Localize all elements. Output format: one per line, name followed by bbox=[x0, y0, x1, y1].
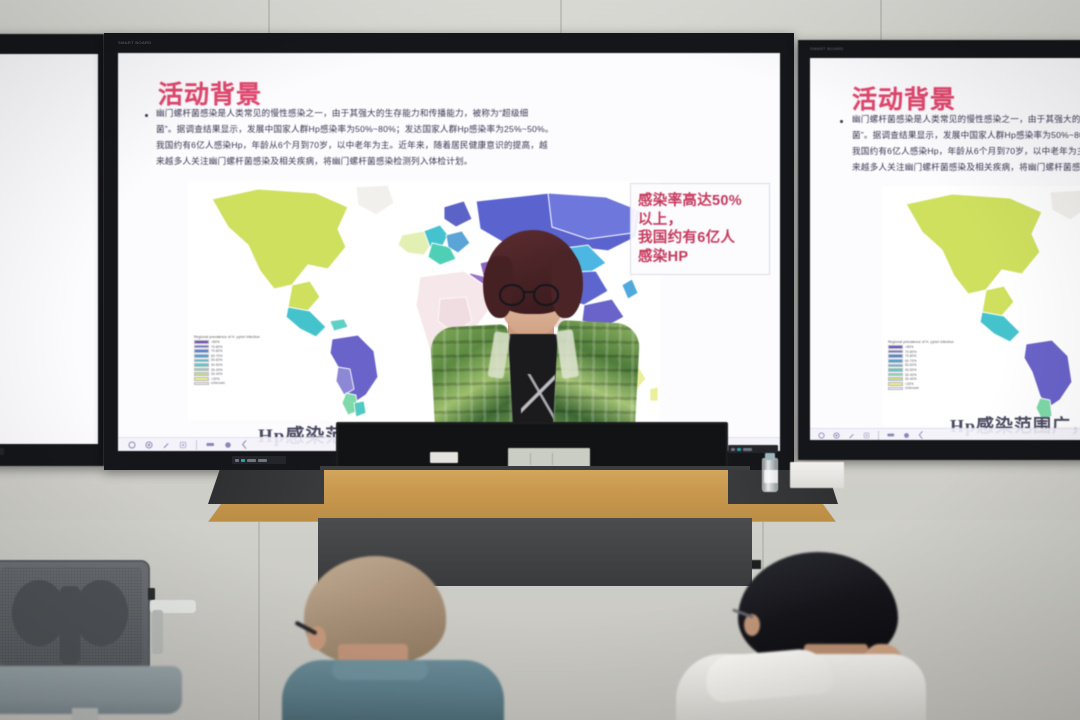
left-slide-text-2: %~50%。 bbox=[0, 106, 98, 118]
map-legend-row: 30-40% bbox=[194, 372, 260, 376]
display-brand-label: SMART BOARD bbox=[118, 40, 152, 45]
presenter bbox=[425, 222, 640, 452]
right-slide-line-1: 幽门螺杆菌感染是人类常见的慢性感染之一，由于其强大的生存能力和传播能力，被称为“… bbox=[852, 113, 1080, 127]
audience-right bbox=[676, 548, 976, 720]
select-frame-icon[interactable] bbox=[863, 432, 870, 439]
power-indicator-icon bbox=[235, 459, 239, 462]
map-legend-swatch bbox=[194, 340, 209, 344]
map-legend-row: 50-60% bbox=[194, 358, 260, 362]
lecture-hall-photo: 级细 %~50%。 高。越 0% 人 SMART BOARD 活动背景 bbox=[0, 0, 1080, 720]
right-map-legend-swatch bbox=[888, 350, 903, 354]
right-map-legend-title: Regional prevalence of H. pylori infecti… bbox=[888, 340, 954, 344]
right-map-legend-row: 50-60% bbox=[888, 363, 954, 367]
eraser-icon[interactable] bbox=[887, 432, 895, 438]
left-slide-text-3: 高。越 bbox=[0, 130, 98, 142]
control-button-icon bbox=[743, 448, 752, 451]
audience-left-collar bbox=[332, 660, 428, 680]
map-legend-row: 40-50% bbox=[194, 363, 260, 367]
office-chair[interactable] bbox=[0, 560, 196, 720]
map-legend-row: 70-80% bbox=[194, 345, 260, 349]
record-dot-icon[interactable] bbox=[833, 432, 840, 439]
right-map-legend-label: 40-50% bbox=[905, 368, 917, 372]
slide-callout-box: 感染率高达50% 以上， 我国约有6亿人 感染HP bbox=[630, 183, 770, 275]
chair-armrest-post-right bbox=[152, 610, 163, 654]
eraser-icon[interactable] bbox=[206, 441, 215, 448]
podium-side-left bbox=[208, 470, 324, 504]
bottle-cap bbox=[765, 453, 775, 460]
right-world-map-figure: Regional prevalence of H. pylori infecti… bbox=[882, 186, 1080, 426]
right-map-legend-label: 60-70% bbox=[905, 359, 917, 363]
right-map-legend-row: 60-70% bbox=[888, 359, 954, 363]
record-dot-icon[interactable] bbox=[145, 441, 153, 449]
slide-body-line-4: 来越多人关注幽门螺杆菌感染及相关疾病，将幽门螺杆菌感染检测列入体检计划。 bbox=[156, 155, 774, 169]
right-map-legend-swatch bbox=[888, 359, 903, 363]
right-slide-line-4: 来越多人关注幽门螺杆菌感染及相关疾病，将幽门螺杆菌感染检测列入体检计划。 bbox=[852, 161, 1080, 175]
right-slide-title: 活动背景 bbox=[852, 80, 956, 116]
map-legend-swatch bbox=[194, 377, 209, 381]
audience-left bbox=[276, 548, 506, 720]
right-map-legend-swatch bbox=[888, 368, 903, 372]
right-slide-line-3: 我国约有6亿人感染Hp，年龄从6个月到70岁，以中老年为主。近年来，随着居民健康… bbox=[852, 145, 1080, 159]
control-button-2-icon bbox=[258, 459, 267, 462]
right-map-legend-row: 70-80% bbox=[888, 350, 954, 354]
left-slide-text-1: 级细 bbox=[0, 82, 98, 94]
prev-chevron-icon[interactable] bbox=[241, 440, 248, 449]
presenter-hair-side-right bbox=[551, 252, 583, 318]
center-display-controls[interactable] bbox=[232, 456, 286, 464]
map-legend-row: 30-40% bbox=[194, 368, 260, 372]
right-map-legend-swatch bbox=[888, 387, 903, 391]
map-legend-swatch bbox=[194, 372, 209, 376]
right-map-legend-label: 70-80% bbox=[905, 354, 917, 358]
map-legend-row: 70-80% bbox=[194, 349, 260, 353]
control-button-icon bbox=[247, 459, 256, 462]
podium-name-plate bbox=[430, 452, 458, 463]
right-map-legend-swatch bbox=[888, 354, 903, 358]
map-legend-label: 40-50% bbox=[211, 363, 223, 367]
right-map-legend-label: 30-40% bbox=[905, 377, 917, 381]
map-legend-label: 60-70% bbox=[211, 354, 223, 358]
chair-lumbar-support bbox=[12, 580, 66, 646]
right-map-legend-row: Unknown bbox=[888, 386, 954, 390]
record-icon[interactable] bbox=[128, 441, 136, 449]
status-indicator-icon bbox=[241, 459, 245, 462]
map-legend-label: >80% bbox=[211, 340, 220, 344]
left-slide: 级细 %~50%。 高。越 0% 人 bbox=[0, 54, 98, 444]
map-legend-label: <30% bbox=[211, 377, 220, 381]
chair-lumbar-support-right bbox=[74, 580, 128, 646]
paper-stack[interactable] bbox=[790, 462, 844, 488]
prev-chevron-icon[interactable] bbox=[918, 431, 924, 439]
toolbar-divider bbox=[196, 440, 197, 450]
map-legend-swatch bbox=[194, 363, 209, 367]
map-legend-label: 70-80% bbox=[211, 345, 223, 349]
presenter-shirt-graphic bbox=[521, 374, 555, 424]
right-map-legend-label: <30% bbox=[905, 382, 914, 386]
chair-adjust-knob[interactable] bbox=[148, 588, 155, 600]
left-display[interactable]: 级细 %~50%。 高。越 0% 人 bbox=[0, 34, 104, 466]
select-frame-icon[interactable] bbox=[179, 441, 187, 449]
chair-lumbar-center bbox=[60, 586, 80, 664]
right-map-legend-label: Unknown bbox=[905, 386, 919, 390]
right-slide: 活动背景 幽门螺杆菌感染是人类常见的慢性感染之一，由于其强大的生存能力和传播能力… bbox=[810, 58, 1080, 440]
right-map-legend-swatch bbox=[888, 364, 903, 368]
right-map-legend-label: 70-80% bbox=[905, 350, 917, 354]
pen-icon[interactable] bbox=[162, 441, 170, 449]
map-legend-swatch bbox=[194, 382, 209, 386]
chair-base-post bbox=[72, 708, 98, 720]
right-map-legend-swatch bbox=[888, 345, 903, 349]
right-map-legend-label: 50-60% bbox=[905, 363, 917, 367]
status-indicator-icon bbox=[737, 448, 741, 451]
water-bottle[interactable] bbox=[762, 458, 778, 492]
map-legend-label: 70-80% bbox=[211, 349, 223, 353]
map-legend: Regional prevalence of H. pylori infecti… bbox=[194, 335, 260, 386]
toolbar-divider bbox=[878, 431, 879, 440]
slide-title: 活动背景 bbox=[158, 75, 262, 111]
map-legend-swatch bbox=[194, 345, 209, 349]
right-map-legend-row: 40-50% bbox=[888, 368, 954, 372]
map-legend-row: 60-70% bbox=[194, 354, 260, 358]
right-display[interactable]: SMART BOARD 活动背景 幽门螺杆菌感染是人类常见的慢性感染之一，由于其… bbox=[798, 40, 1080, 460]
map-legend-row: >80% bbox=[194, 340, 260, 344]
right-map-legend-row: 30-40% bbox=[888, 373, 954, 377]
chair-seat[interactable] bbox=[0, 666, 182, 714]
map-legend-row: Unknown bbox=[194, 381, 260, 385]
power-indicator-icon bbox=[731, 448, 735, 451]
map-legend-swatch bbox=[194, 354, 209, 358]
slide-bullet-marker bbox=[145, 114, 148, 117]
map-legend-label: 50-60% bbox=[211, 358, 223, 362]
shapes-icon[interactable] bbox=[224, 441, 232, 449]
keyboard-key-line-2 bbox=[552, 453, 553, 465]
display-brand-label-right: SMART BOARD bbox=[810, 46, 844, 51]
slide-body-line-1: 幽门螺杆菌感染是人类常见的慢性感染之一，由于其强大的生存能力和传播能力，被称为“… bbox=[156, 107, 768, 121]
right-map-legend-label: >80% bbox=[905, 345, 914, 349]
slide-body-line-3: 我国约有6亿人感染Hp，年龄从6个月到70岁，以中老年为主。近年来，随着居民健康… bbox=[156, 139, 774, 153]
wall-seam-lower-1 bbox=[258, 520, 260, 720]
presenter-glasses-bridge bbox=[524, 291, 534, 293]
left-display-screen: 级细 %~50%。 高。越 0% 人 bbox=[0, 54, 98, 444]
callout-line-3: 我国约有6亿人 bbox=[638, 229, 762, 248]
map-legend-title: Regional prevalence of H. pylori infecti… bbox=[194, 335, 260, 339]
right-map-legend-row: >80% bbox=[888, 345, 954, 349]
keyboard-key-line-1 bbox=[530, 453, 531, 465]
right-map-legend: Regional prevalence of H. pylori infecti… bbox=[888, 340, 954, 391]
right-map-legend-row: 30-40% bbox=[888, 377, 954, 381]
record-icon[interactable] bbox=[818, 432, 825, 439]
right-map-legend-row: 70-80% bbox=[888, 354, 954, 358]
presenter-glasses-right-lens bbox=[533, 284, 559, 306]
callout-line-2: 以上， bbox=[638, 211, 762, 230]
map-legend-label: 30-40% bbox=[211, 372, 223, 376]
bottle-label bbox=[764, 470, 778, 483]
right-slide-bullet-marker bbox=[840, 120, 843, 123]
callout-line-1: 感染率高达50% bbox=[638, 192, 762, 211]
map-legend-swatch bbox=[194, 359, 209, 363]
right-map-legend-swatch bbox=[888, 373, 903, 377]
map-legend-label: 30-40% bbox=[211, 368, 223, 372]
right-display-controls[interactable] bbox=[728, 445, 778, 453]
right-map-legend-swatch bbox=[888, 382, 903, 386]
right-slide-line-2: 菌”。据调查结果显示，发展中国家人群Hp感染率为50%~80%；发达国家人群Hp… bbox=[852, 129, 1080, 143]
chair-backrest bbox=[0, 560, 150, 672]
presenter-glasses-left-lens bbox=[499, 284, 525, 306]
right-map-legend-label: 30-40% bbox=[905, 373, 917, 377]
right-display-screen: 活动背景 幽门螺杆菌感染是人类常见的慢性感染之一，由于其强大的生存能力和传播能力… bbox=[810, 58, 1080, 440]
map-legend-swatch bbox=[194, 349, 209, 353]
map-legend-swatch bbox=[194, 368, 209, 372]
slide-body-line-2: 菌”。据调查结果显示，发展中国家人群Hp感染率为50%~80%；发达国家人群Hp… bbox=[156, 123, 774, 137]
map-legend-row: <30% bbox=[194, 377, 260, 381]
right-map-legend-row: <30% bbox=[888, 382, 954, 386]
map-legend-label: Unknown bbox=[211, 381, 225, 385]
left-display-controls[interactable] bbox=[0, 448, 4, 455]
right-map-legend-swatch bbox=[888, 377, 903, 381]
callout-line-4: 感染HP bbox=[638, 248, 762, 267]
right-whiteboard-toolbar[interactable] bbox=[810, 428, 1080, 440]
shapes-icon[interactable] bbox=[903, 432, 910, 439]
pen-icon[interactable] bbox=[848, 432, 855, 439]
